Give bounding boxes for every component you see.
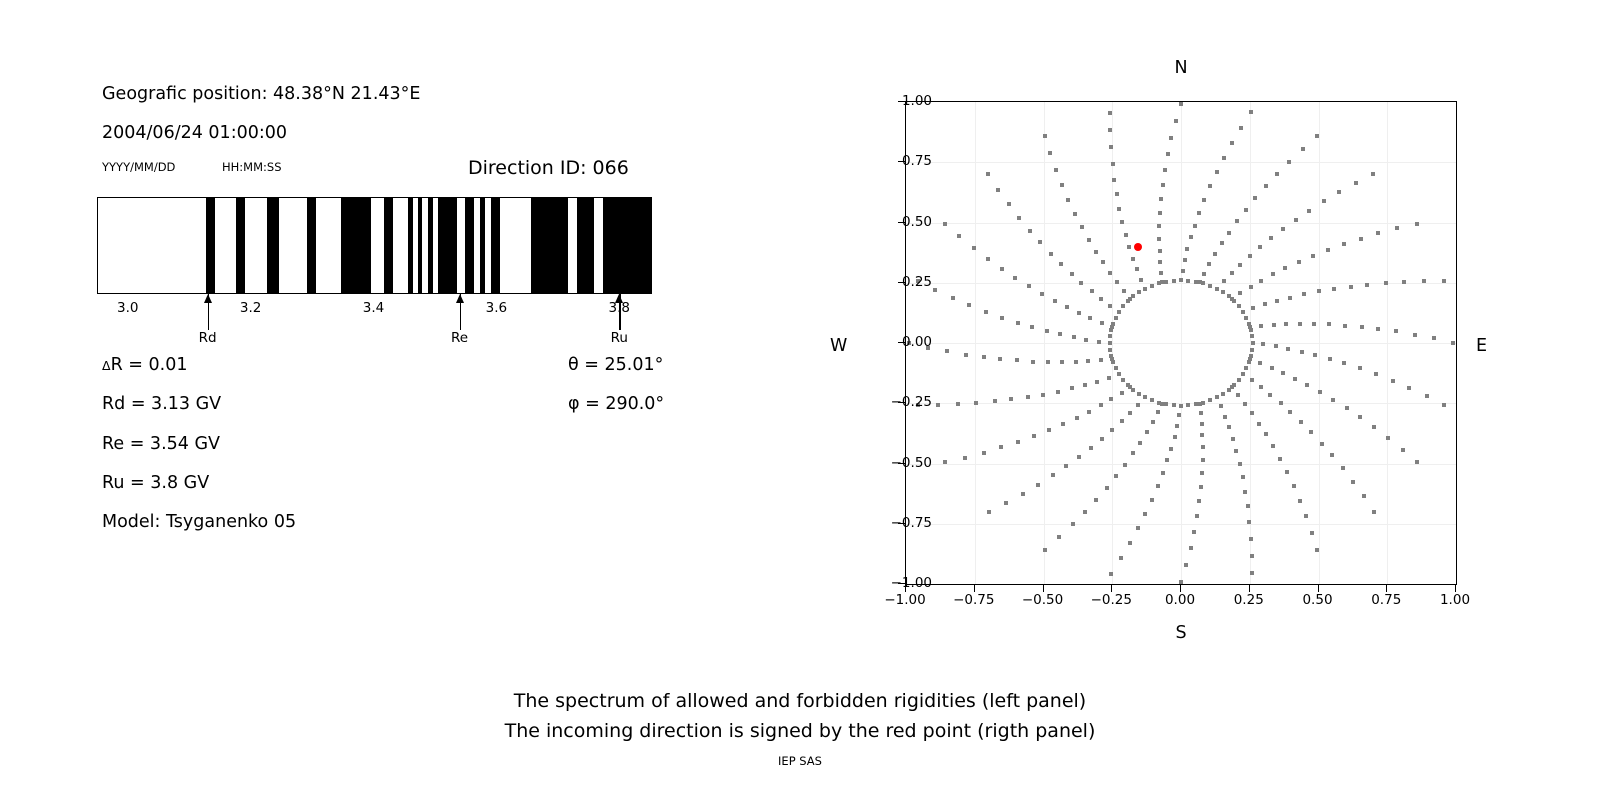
- y-axis-tick-mark: [898, 402, 905, 403]
- scatter-point: [1451, 341, 1455, 345]
- scatter-point: [1285, 470, 1289, 474]
- scatter-point: [943, 222, 947, 226]
- rigidity-tick-label: 3.4: [363, 300, 384, 316]
- x-axis-tick-mark: [1249, 585, 1250, 592]
- y-axis-tick-label: 0.25: [902, 274, 932, 290]
- scatter-point: [1080, 225, 1084, 229]
- scatter-point: [1172, 279, 1176, 283]
- scatter-point: [1238, 263, 1242, 267]
- rigidity-tick-label: 3.0: [117, 300, 138, 316]
- scatter-point: [1089, 446, 1093, 450]
- scatter-point: [1041, 393, 1045, 397]
- scatter-point: [1108, 341, 1112, 345]
- scatter-point: [1032, 434, 1036, 438]
- scatter-point: [1341, 466, 1345, 470]
- x-axis-tick-mark: [974, 585, 975, 592]
- scatter-point: [1332, 287, 1336, 291]
- scatter-point: [1112, 178, 1116, 182]
- scatter-point: [1362, 494, 1366, 498]
- scatter-point: [1315, 134, 1319, 138]
- scatter-point: [1315, 548, 1319, 552]
- scatter-point: [1179, 404, 1183, 408]
- scatter-point: [1138, 441, 1142, 445]
- compass-label-north: N: [1174, 58, 1187, 78]
- y-axis-tick-mark: [898, 523, 905, 524]
- scatter-point: [1094, 498, 1098, 502]
- scatter-point: [1131, 388, 1135, 392]
- scatter-point: [1051, 473, 1055, 477]
- scatter-point: [1249, 354, 1253, 358]
- gridline-horizontal: [906, 162, 1456, 163]
- scatter-point: [1173, 435, 1177, 439]
- scatter-point: [1128, 411, 1132, 415]
- param-phi: φ = 290.0°: [568, 394, 664, 414]
- scatter-point: [1115, 192, 1119, 196]
- scatter-point: [986, 257, 990, 261]
- scatter-point: [1099, 403, 1103, 407]
- scatter-point: [1163, 168, 1167, 172]
- scatter-point: [1084, 338, 1088, 342]
- marker-label: Re: [451, 330, 468, 346]
- y-axis-tick-mark: [898, 282, 905, 283]
- param-ru: Ru = 3.8 GV: [102, 473, 209, 493]
- scatter-point: [1201, 458, 1205, 462]
- scatter-point: [1432, 336, 1436, 340]
- scatter-point: [963, 456, 967, 460]
- scatter-point: [1288, 296, 1292, 300]
- scatter-point: [1307, 209, 1311, 213]
- scatter-point: [1043, 548, 1047, 552]
- forbidden-band: [428, 198, 433, 293]
- scatter-point: [1337, 190, 1341, 194]
- scatter-point: [1087, 410, 1091, 414]
- scatter-point: [1174, 119, 1178, 123]
- scatter-point: [1376, 231, 1380, 235]
- x-axis-tick-label: 0.75: [1371, 592, 1401, 608]
- scatter-point: [1264, 184, 1268, 188]
- scatter-point: [1087, 238, 1091, 242]
- scatter-point: [1268, 393, 1272, 397]
- rigidity-tick-label: 3.2: [240, 300, 261, 316]
- scatter-point: [1131, 451, 1135, 455]
- scatter-point: [1189, 235, 1193, 239]
- scatter-point: [1194, 280, 1198, 284]
- scatter-point: [1246, 504, 1250, 508]
- scatter-point: [1056, 390, 1060, 394]
- scatter-point: [1247, 322, 1251, 326]
- scatter-point: [1281, 371, 1285, 375]
- scatter-point: [1026, 395, 1030, 399]
- scatter-point: [1349, 285, 1353, 289]
- scatter-point: [972, 246, 976, 250]
- scatter-point: [1345, 406, 1349, 410]
- scatter-point: [1027, 284, 1031, 288]
- x-axis-tick-label: −0.75: [953, 592, 994, 608]
- scatter-point: [1317, 289, 1321, 293]
- scatter-point: [1263, 302, 1267, 306]
- scatter-point: [1120, 419, 1124, 423]
- y-axis-tick-mark: [898, 342, 905, 343]
- scatter-point: [1258, 361, 1262, 365]
- scatter-point: [1108, 334, 1112, 338]
- rigidity-spectrum-chart: [97, 197, 652, 294]
- scatter-point: [1105, 486, 1109, 490]
- scatter-point: [1143, 287, 1147, 291]
- scatter-point: [1301, 147, 1305, 151]
- scatter-point: [936, 403, 940, 407]
- scatter-point: [1415, 460, 1419, 464]
- figure-caption: The spectrum of allowed and forbidden ri…: [0, 686, 1600, 746]
- scatter-point: [1117, 372, 1121, 376]
- scatter-point: [1365, 283, 1369, 287]
- scatter-point: [1114, 366, 1118, 370]
- scatter-point: [1166, 152, 1170, 156]
- rigidity-tick-label: 3.6: [486, 300, 507, 316]
- scatter-point: [1074, 360, 1078, 364]
- scatter-point: [945, 349, 949, 353]
- scatter-point: [1251, 306, 1255, 310]
- scatter-point: [1095, 380, 1099, 384]
- scatter-point: [1169, 136, 1173, 140]
- scatter-point: [1202, 198, 1206, 202]
- scatter-point: [1310, 531, 1314, 535]
- scatter-point: [1294, 218, 1298, 222]
- x-axis-tick-label: 0.25: [1234, 592, 1264, 608]
- scatter-point: [1422, 279, 1426, 283]
- scatter-point: [1326, 248, 1330, 252]
- scatter-point: [1222, 279, 1226, 283]
- scatter-point: [1331, 398, 1335, 402]
- left-panel: Geografic position: 48.38°N 21.43°E 2004…: [0, 0, 800, 680]
- scatter-point: [1199, 485, 1203, 489]
- scatter-point: [1227, 294, 1231, 298]
- scatter-point: [1100, 321, 1104, 325]
- scatter-point: [1145, 430, 1149, 434]
- scatter-point: [1328, 357, 1332, 361]
- scatter-point: [1121, 304, 1125, 308]
- scatter-point: [1151, 420, 1155, 424]
- forbidden-band: [531, 198, 568, 293]
- scatter-point: [1318, 390, 1322, 394]
- forbidden-band: [577, 198, 594, 293]
- scatter-point: [1275, 299, 1279, 303]
- arrow-up-icon: [456, 294, 464, 303]
- scatter-point: [1150, 398, 1154, 402]
- rigidity-axis: 3.03.23.43.63.8RdReRu: [97, 294, 652, 344]
- scatter-point: [1122, 289, 1126, 293]
- scatter-point: [1117, 207, 1121, 211]
- x-axis-tick-mark: [1318, 585, 1319, 592]
- scatter-point: [1111, 360, 1115, 364]
- scatter-point: [1108, 348, 1112, 352]
- scatter-point: [1249, 537, 1253, 541]
- scatter-point: [1077, 311, 1081, 315]
- scatter-point: [1009, 397, 1013, 401]
- scatter-point: [1222, 156, 1226, 160]
- scatter-point: [1065, 305, 1069, 309]
- scatter-point: [998, 357, 1002, 361]
- scatter-point: [1270, 366, 1274, 370]
- compass-label-west: W: [830, 336, 847, 356]
- scatter-point: [1238, 291, 1242, 295]
- x-axis-tick-label: −0.50: [1022, 592, 1063, 608]
- arrow-up-icon: [615, 294, 623, 303]
- scatter-point: [1250, 571, 1254, 575]
- scatter-point: [1143, 395, 1147, 399]
- scatter-point: [1172, 403, 1176, 407]
- y-axis-tick-mark: [898, 222, 905, 223]
- gridline-horizontal: [906, 223, 1456, 224]
- scatter-point: [1073, 212, 1077, 216]
- scatter-point: [1109, 328, 1113, 332]
- scatter-point: [1061, 422, 1065, 426]
- scatter-point: [1250, 554, 1254, 558]
- scatter-point: [1292, 484, 1296, 488]
- scatter-point: [1269, 236, 1273, 240]
- scatter-point: [1179, 580, 1183, 584]
- scatter-point: [1049, 252, 1053, 256]
- scatter-point: [1261, 342, 1265, 346]
- scatter-point: [1219, 404, 1223, 408]
- scatter-point: [1253, 196, 1257, 200]
- scatter-point: [1283, 266, 1287, 270]
- scatter-point: [1175, 424, 1179, 428]
- scatter-point: [1201, 401, 1205, 405]
- param-delta-r-value: R = 0.01: [111, 355, 188, 375]
- scatter-point: [1200, 433, 1204, 437]
- scatter-point: [1094, 250, 1098, 254]
- scatter-point: [1249, 285, 1253, 289]
- compass-label-south: S: [1175, 623, 1186, 643]
- x-axis-tick-mark: [1386, 585, 1387, 592]
- y-axis-tick-mark: [898, 463, 905, 464]
- scatter-point: [1195, 514, 1199, 518]
- scatter-point: [1311, 254, 1315, 258]
- scatter-point: [1070, 272, 1074, 276]
- scatter-point: [1236, 393, 1240, 397]
- scatter-point: [1139, 278, 1143, 282]
- param-rd: Rd = 3.13 GV: [102, 394, 221, 414]
- scatter-point: [951, 296, 955, 300]
- scatter-point: [1028, 229, 1032, 233]
- scatter-point: [1298, 499, 1302, 503]
- param-delta-r: ΔR = 0.01: [102, 355, 187, 375]
- scatter-point: [1117, 310, 1121, 314]
- scatter-point: [1059, 262, 1063, 266]
- scatter-point: [1239, 126, 1243, 130]
- x-axis-tick-label: −1.00: [884, 592, 925, 608]
- datetime-label: 2004/06/24 01:00:00: [102, 123, 287, 143]
- scatter-point: [1395, 226, 1399, 230]
- scatter-point: [1137, 290, 1141, 294]
- scatter-point: [1108, 271, 1112, 275]
- scatter-point: [1199, 411, 1203, 415]
- y-axis-tick-label: −0.75: [891, 515, 932, 531]
- scatter-point: [1161, 183, 1165, 187]
- scatter-point: [996, 188, 1000, 192]
- scatter-point: [1372, 425, 1376, 429]
- scatter-point: [1090, 289, 1094, 293]
- scatter-point: [1004, 501, 1008, 505]
- scatter-point: [1109, 572, 1113, 576]
- forbidden-band: [491, 198, 500, 293]
- scatter-point: [1000, 267, 1004, 271]
- scatter-point: [1243, 402, 1247, 406]
- y-axis-tick-label: −1.00: [891, 575, 932, 591]
- marker-label: Rd: [199, 330, 217, 346]
- scatter-point: [1046, 360, 1050, 364]
- scatter-point: [1250, 378, 1254, 382]
- forbidden-band: [384, 198, 393, 293]
- scatter-point: [1143, 512, 1147, 516]
- scatter-point: [1156, 484, 1160, 488]
- scatter-point: [1047, 428, 1051, 432]
- scatter-point: [1227, 425, 1231, 429]
- scatter-point: [1230, 271, 1234, 275]
- param-re: Re = 3.54 GV: [102, 434, 220, 454]
- scatter-point: [1070, 386, 1074, 390]
- scatter-point: [1179, 102, 1183, 106]
- y-axis-tick-label: 0.75: [902, 153, 932, 169]
- scatter-point: [943, 460, 947, 464]
- scatter-point: [1048, 151, 1052, 155]
- scatter-point: [1158, 211, 1162, 215]
- scatter-point: [1221, 290, 1225, 294]
- scatter-point: [1227, 231, 1231, 235]
- scatter-point: [1407, 386, 1411, 390]
- scatter-point: [1201, 281, 1205, 285]
- scatter-point: [1442, 403, 1446, 407]
- scatter-point: [1030, 325, 1034, 329]
- scatter-point: [1342, 242, 1346, 246]
- scatter-point: [1083, 510, 1087, 514]
- scatter-point: [1287, 160, 1291, 164]
- scatter-point: [1278, 457, 1282, 461]
- arrow-up-icon: [204, 294, 212, 303]
- scatter-point: [1114, 316, 1118, 320]
- scatter-point: [1083, 383, 1087, 387]
- scatter-point: [982, 451, 986, 455]
- y-axis-tick-mark: [898, 101, 905, 102]
- scatter-point: [1007, 202, 1011, 206]
- scatter-point: [1157, 224, 1161, 228]
- scatter-point: [1161, 471, 1165, 475]
- scatter-point: [1072, 335, 1076, 339]
- scatter-point: [1304, 514, 1308, 518]
- scatter-point: [1305, 383, 1309, 387]
- scatter-point: [1111, 162, 1115, 166]
- scatter-point: [986, 172, 990, 176]
- scatter-point: [1354, 181, 1358, 185]
- direction-id-label: Direction ID: 066: [468, 157, 629, 179]
- scatter-point: [967, 303, 971, 307]
- scatter-point: [1234, 449, 1238, 453]
- scatter-point: [1038, 240, 1042, 244]
- scatter-point: [1101, 260, 1105, 264]
- scatter-point: [1150, 284, 1154, 288]
- x-axis-tick-mark: [1180, 585, 1181, 592]
- scatter-point: [1250, 348, 1254, 352]
- scatter-point: [1376, 327, 1380, 331]
- scatter-point: [1327, 322, 1331, 326]
- scatter-point: [1066, 198, 1070, 202]
- scatter-point: [1402, 280, 1406, 284]
- scatter-point: [1159, 197, 1163, 201]
- forbidden-band: [438, 198, 458, 293]
- scatter-point: [1156, 410, 1160, 414]
- scatter-point: [1342, 361, 1346, 365]
- scatter-point: [1120, 391, 1124, 395]
- compass-label-east: E: [1476, 336, 1487, 356]
- scatter-point: [1208, 184, 1212, 188]
- scatter-point: [1208, 284, 1212, 288]
- scatter-point: [1241, 372, 1245, 376]
- scatter-point: [1135, 267, 1139, 271]
- scatter-point: [1016, 321, 1020, 325]
- scatter-point: [1258, 245, 1262, 249]
- scatter-point: [1312, 322, 1316, 326]
- scatter-point: [1360, 325, 1364, 329]
- scatter-point: [1127, 245, 1131, 249]
- y-axis-tick-label: 0.50: [902, 214, 932, 230]
- scatter-point: [1371, 172, 1375, 176]
- scatter-point: [1298, 322, 1302, 326]
- scatter-point: [1251, 341, 1255, 345]
- scatter-point: [933, 288, 937, 292]
- scatter-point: [1111, 322, 1115, 326]
- scatter-point: [1164, 280, 1168, 284]
- scatter-point: [1054, 168, 1058, 172]
- scatter-point: [1197, 499, 1201, 503]
- scatter-point: [1394, 329, 1398, 333]
- scatter-point: [1299, 420, 1303, 424]
- scatter-point: [1120, 220, 1124, 224]
- scatter-point: [1060, 360, 1064, 364]
- scatter-point: [1243, 490, 1247, 494]
- incoming-direction-point: [1134, 243, 1142, 251]
- scatter-point: [1248, 254, 1252, 258]
- scatter-point: [1157, 237, 1161, 241]
- scatter-point: [1300, 350, 1304, 354]
- scatter-point: [1358, 415, 1362, 419]
- scatter-point: [1271, 272, 1275, 276]
- scatter-point: [1193, 224, 1197, 228]
- scatter-point: [1241, 310, 1245, 314]
- scatter-point: [1215, 287, 1219, 291]
- scatter-point: [1237, 378, 1241, 382]
- scatter-point: [1223, 415, 1227, 419]
- geographic-position-label: Geografic position: 48.38°N 21.43°E: [102, 84, 420, 104]
- scatter-point: [1036, 483, 1040, 487]
- forbidden-band: [603, 198, 651, 293]
- scatter-point: [1244, 366, 1248, 370]
- scatter-point: [1244, 208, 1248, 212]
- scatter-point: [987, 510, 991, 514]
- scatter-point: [1320, 442, 1324, 446]
- scatter-point: [1043, 134, 1047, 138]
- scatter-point: [1075, 416, 1079, 420]
- forbidden-band: [341, 198, 372, 293]
- scatter-point: [1115, 280, 1119, 284]
- scatter-point: [1313, 353, 1317, 357]
- scatter-point: [1372, 510, 1376, 514]
- scatter-point: [1124, 233, 1128, 237]
- x-axis-tick-mark: [1043, 585, 1044, 592]
- scatter-point: [1257, 422, 1261, 426]
- x-axis-tick-mark: [1455, 585, 1456, 592]
- scatter-point: [1297, 260, 1301, 264]
- scatter-point: [1165, 458, 1169, 462]
